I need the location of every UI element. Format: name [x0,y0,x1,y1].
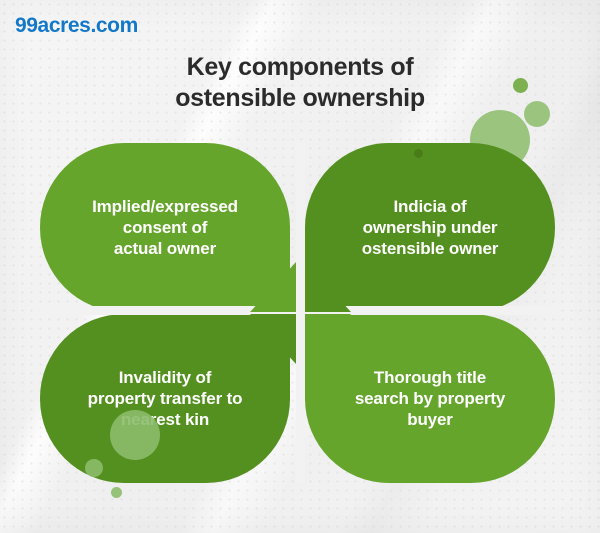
card-thorough-title-search[interactable]: Thorough title search by property buyer [305,314,555,483]
card-line: consent of [92,217,238,238]
card-line: buyer [355,409,505,430]
card-line: Indicia of [362,196,498,217]
card-line: ostensible owner [362,238,498,259]
card-line: ownership under [362,217,498,238]
card-implied-expressed-consent-text: Implied/expressed consent of actual owne… [78,196,252,260]
decorative-circle-bottom-left-small [111,487,122,498]
card-line: search by property [355,388,505,409]
card-thorough-title-search-text: Thorough title search by property buyer [341,367,519,431]
page-title-line-1: Key components of [0,52,600,83]
card-invalidity-of-property-transfer[interactable]: Invalidity of property transfer to neare… [40,314,290,483]
card-invalidity-of-property-transfer-text: Invalidity of property transfer to neare… [74,367,257,431]
card-line: Implied/expressed [92,196,238,217]
card-seam-vertical [296,143,305,483]
page-title-line-2: ostensible ownership [0,83,600,114]
card-line: actual owner [92,238,238,259]
card-line: Invalidity of [88,367,243,388]
card-indicia-of-ownership[interactable]: Indicia of ownership under ostensible ow… [305,143,555,312]
card-line: Thorough title [355,367,505,388]
card-indicia-of-ownership-text: Indicia of ownership under ostensible ow… [348,196,512,260]
card-line: property transfer to [88,388,243,409]
page-title: Key components of ostensible ownership [0,52,600,113]
card-implied-expressed-consent[interactable]: Implied/expressed consent of actual owne… [40,143,290,312]
infographic-canvas: 99acres.com Key components of ostensible… [0,0,600,533]
99acres-logo[interactable]: 99acres.com [15,14,138,38]
card-line: nearest kin [88,409,243,430]
